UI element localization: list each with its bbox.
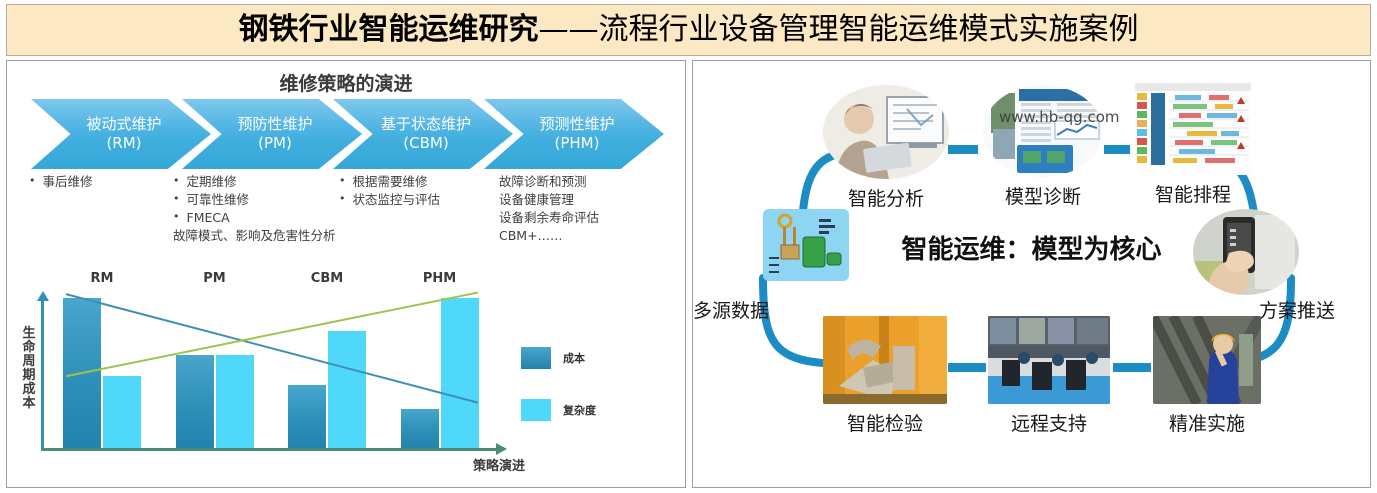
chart-y-axis-title: 生命周期成本 [21, 327, 37, 411]
chart-plot-area: RMPMCBMPHM [41, 291, 491, 451]
chart-x-axis-arrow-icon [496, 443, 507, 455]
flow-node-label-remote-support: 远程支持 [1011, 409, 1087, 436]
flow-connector-bottom-1 [948, 363, 986, 372]
flow-connector-bottom-2 [1113, 363, 1151, 372]
bullet-dot-icon: • [29, 173, 36, 191]
field-worker-photo [1153, 316, 1261, 404]
legend-label-cost: 成本 [563, 350, 585, 366]
flow-node-intelligent-analysis[interactable]: 智能分析 [823, 85, 949, 211]
flow-node-remote-support[interactable]: 远程支持 [988, 316, 1110, 436]
center-slogan: 智能运维：模型为核心 [693, 229, 1370, 266]
chart-bar-pm-cost [176, 355, 214, 448]
list-item: • 事后维修 [29, 173, 169, 191]
flow-node-label-model-diagnosis: 模型诊断 [1005, 182, 1081, 209]
list-item-label: 事后维修 [43, 173, 93, 191]
maintenance-stage-chevrons: 被动式维护 (RM) 预防性维护 (PM) 基于状态维护 (CBM) 预测性维护… [31, 99, 671, 169]
stage-chevron-cbm-line1: 基于状态维护 [381, 115, 471, 134]
stage-details-phm-line1: 故障诊断和预测 [499, 173, 684, 191]
page-title-bar: 钢铁行业智能运维研究——流程行业设备管理智能运维模式实施案例 [6, 4, 1371, 56]
list-item-label: 状态监控与评估 [353, 191, 441, 209]
list-item-label: 定期维修 [187, 173, 237, 191]
stage-details-pm-note: 故障模式、影响及危害性分析 [173, 227, 403, 245]
legend-swatch-complexity [521, 399, 551, 421]
flow-node-intelligent-scheduling[interactable]: 智能排程 [1135, 83, 1251, 207]
chart-bar-phm-complexity [441, 298, 479, 448]
legend-swatch-cost [521, 347, 551, 369]
chart-bar-rm-complexity [103, 376, 141, 448]
flow-connector-top-2 [1104, 145, 1130, 154]
chart-y-axis-arrow-icon [37, 291, 49, 301]
stage-chevron-rm-line1: 被动式维护 [86, 115, 161, 134]
stage-details-phm-line2: 设备健康管理 [499, 191, 684, 209]
right-panel: 智能分析 [692, 60, 1371, 488]
stage-chevron-rm[interactable]: 被动式维护 (RM) [31, 99, 211, 169]
bullet-dot-icon: • [173, 191, 180, 209]
smart-om-flow-diagram: 智能分析 [693, 61, 1370, 487]
bullet-dot-icon: • [339, 173, 346, 191]
chart-category-label-rm: RM [91, 271, 114, 286]
list-item-label: FMECA [187, 209, 230, 227]
stage-details-phm: 故障诊断和预测 设备健康管理 设备剩余寿命评估 CBM+…… [499, 173, 684, 246]
stage-details-phm-line3: 设备剩余寿命评估 [499, 209, 684, 227]
flow-node-label-intelligent-scheduling: 智能排程 [1155, 180, 1231, 207]
legend-item-cost: 成本 [521, 347, 651, 369]
stage-chevron-pm-line2: (PM) [258, 134, 292, 153]
monitoring-software-screenshot [983, 85, 1103, 177]
stage-chevron-phm-line1: 预测性维护 [539, 115, 614, 134]
watermark-text: www.hb-qg.com [999, 108, 1119, 126]
chart-category-label-cbm: CBM [311, 271, 343, 286]
flow-node-model-diagnosis[interactable]: 模型诊断 [983, 85, 1103, 209]
chart-bar-phm-cost [401, 409, 439, 448]
chart-category-label-pm: PM [203, 271, 225, 286]
list-item: • 根据需要维修 [339, 173, 489, 191]
chart-x-axis-title: 策略演进 [473, 455, 525, 474]
left-panel: 维修策略的演进 被动式维护 (RM) 预防性维护 (PM) 基于状态维护 (CB… [6, 60, 686, 488]
list-item-label: 根据需要维修 [353, 173, 428, 191]
page-title-subtitle: ——流程行业设备管理智能运维模式实施案例 [539, 12, 1139, 47]
flow-node-precise-implementation[interactable]: 精准实施 [1153, 316, 1261, 436]
flow-node-label-intelligent-analysis: 智能分析 [848, 184, 924, 211]
legend-item-complexity: 复杂度 [521, 399, 651, 421]
page-title-bold: 钢铁行业智能运维研究 [239, 12, 539, 47]
chart-legend: 成本 复杂度 [521, 347, 651, 451]
chart-bar-rm-cost [63, 298, 101, 448]
strategy-evolution-heading: 维修策略的演进 [7, 69, 685, 96]
list-item: • 状态监控与评估 [339, 191, 489, 209]
bullet-dot-icon: • [173, 173, 180, 191]
stage-chevron-rm-line2: (RM) [106, 134, 141, 153]
robot-inspection-photo [823, 316, 947, 404]
stage-details-phm-line4: CBM+…… [499, 227, 684, 245]
chart-bar-pm-complexity [216, 355, 254, 448]
chart-x-axis [41, 448, 496, 451]
bullet-dot-icon: • [173, 209, 180, 227]
flow-node-label-precise-implementation: 精准实施 [1169, 409, 1245, 436]
legend-label-complexity: 复杂度 [563, 402, 596, 418]
stage-details-cbm: • 根据需要维修 • 状态监控与评估 [339, 173, 489, 209]
flow-connector-top-1 [948, 145, 978, 154]
flow-node-label-plan-push: 方案推送 [1259, 296, 1335, 323]
scheduling-gantt-screenshot [1135, 83, 1251, 175]
engineer-workstation-photo [823, 85, 949, 179]
lifecycle-cost-chart: 生命周期成本 策略演进 RMPMCBMPHM 成本 复杂度 [21, 269, 673, 479]
flow-node-intelligent-inspection[interactable]: 智能检验 [823, 316, 947, 436]
chart-y-axis [41, 301, 44, 451]
list-item-label: 可靠性维修 [187, 191, 250, 209]
chart-category-label-phm: PHM [423, 271, 456, 286]
flow-node-label-intelligent-inspection: 智能检验 [847, 409, 923, 436]
stage-chevron-phm-line2: (PHM) [555, 134, 600, 153]
flow-node-label-multi-source-data: 多源数据 [693, 296, 769, 323]
stage-chevron-pm-line1: 预防性维护 [237, 115, 312, 134]
chart-bar-cbm-cost [288, 385, 326, 448]
bullet-dot-icon: • [339, 191, 346, 209]
chart-bar-cbm-complexity [328, 331, 366, 448]
panels-container: 维修策略的演进 被动式维护 (RM) 预防性维护 (PM) 基于状态维护 (CB… [6, 60, 1371, 488]
control-room-photo [988, 316, 1110, 404]
list-item: • FMECA [173, 209, 403, 227]
page-title: 钢铁行业智能运维研究——流程行业设备管理智能运维模式实施案例 [239, 15, 1139, 45]
stage-chevron-cbm-line2: (CBM) [403, 134, 448, 153]
stage-details-rm: • 事后维修 [29, 173, 169, 191]
